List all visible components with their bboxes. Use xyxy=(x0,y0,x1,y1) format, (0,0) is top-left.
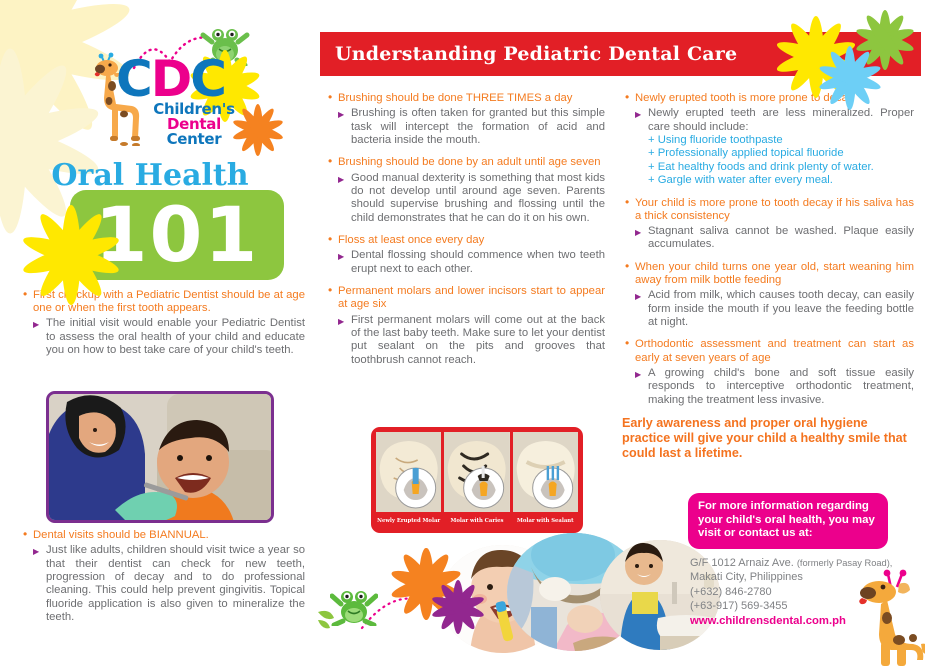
logo-name: Children's Dental Center xyxy=(134,102,254,147)
sub-item: A growing child's bone and soft tissue e… xyxy=(622,367,914,407)
bullet-heading: Your child is more prone to tooth decay … xyxy=(622,197,914,223)
logo-name-line-3: Center xyxy=(134,132,254,147)
banner-heading: Understanding Pediatric Dental Care xyxy=(320,43,737,65)
plus-item: + Professionally applied topical fluorid… xyxy=(648,147,914,160)
address-street: G/F 1012 Arnaiz Ave. xyxy=(690,557,797,569)
left-text-block-1: First checkup with a Pediatric Dentist s… xyxy=(20,289,305,367)
cdc-logo: CDC Children's Dental Center xyxy=(88,22,273,150)
left-column: CDC Children's Dental Center Oral Health… xyxy=(0,0,318,670)
molar-image-caries xyxy=(444,432,509,512)
bullet-heading: Floss at least once every day xyxy=(325,234,605,247)
dentist-examining-child-photo xyxy=(46,391,274,523)
plus-item: + Gargle with water after every meal. xyxy=(648,174,914,187)
contact-address-line-2: Makati City, Philippines xyxy=(690,570,905,584)
bullet-heading: When your child turns one year old, star… xyxy=(622,261,914,287)
contact-address-line-1: G/F 1012 Arnaiz Ave. (formerly Pasay Roa… xyxy=(690,556,905,570)
sub-item: Dental flossing should commence when two… xyxy=(325,249,605,276)
sub-item: Newly erupted teeth are less mineralized… xyxy=(622,107,914,187)
molar-image-newly-erupted xyxy=(376,432,441,512)
sub-item: Brushing is often taken for granted but … xyxy=(325,107,605,147)
title-number-box: 101 xyxy=(70,190,284,280)
left-text-block-2: Dental visits should be BIANNUAL. Just l… xyxy=(20,529,305,634)
page-title-oral-health: Oral Health xyxy=(0,158,300,193)
contact-phone-2[interactable]: (+63-917) 569-3455 xyxy=(690,599,905,613)
closing-statement: Early awareness and proper oral hygiene … xyxy=(622,416,914,461)
sub-item: Good manual dexterity is something that … xyxy=(325,172,605,226)
bullet-heading: Orthodontic assessment and treatment can… xyxy=(622,338,914,364)
plus-item: + Using fluoride toothpaste xyxy=(648,134,914,147)
molar-caption: Molar with Caries xyxy=(444,512,509,530)
bullet-heading: Brushing should be done THREE TIMES a da… xyxy=(325,92,605,105)
logo-letter-c1: C xyxy=(116,50,151,108)
molar-images xyxy=(376,432,578,512)
contact-callout-text: For more information regarding your chil… xyxy=(698,500,878,541)
molar-captions: Newly Erupted Molar Molar with Caries Mo… xyxy=(376,512,578,530)
photo-illustration xyxy=(49,394,274,523)
contact-details: G/F 1012 Arnaiz Ave. (formerly Pasay Roa… xyxy=(690,556,905,628)
contact-website-link[interactable]: www.childrensdental.com.ph xyxy=(690,614,905,628)
bullet-heading: First checkup with a Pediatric Dentist s… xyxy=(20,289,305,315)
bullet-heading: Brushing should be done by an adult unti… xyxy=(325,156,605,169)
bullet-heading: Newly erupted tooth is more prone to dec… xyxy=(622,92,914,105)
bullet-heading: Dental visits should be BIANNUAL. xyxy=(20,529,305,542)
bullet-heading: Permanent molars and lower incisors star… xyxy=(325,285,605,311)
plus-item: + Eat healthy foods and drink plenty of … xyxy=(648,161,914,174)
frog-icon xyxy=(330,582,378,626)
right-column: Newly erupted tooth is more prone to dec… xyxy=(622,92,914,461)
molar-caption: Molar with Sealant xyxy=(513,512,578,530)
middle-column: Brushing should be done THREE TIMES a da… xyxy=(325,92,605,376)
page-banner: Understanding Pediatric Dental Care xyxy=(320,32,921,76)
sub-item: Stagnant saliva cannot be washed. Plaque… xyxy=(622,225,914,252)
molar-comparison-figure: Newly Erupted Molar Molar with Caries Mo… xyxy=(371,427,583,533)
molar-caption: Newly Erupted Molar xyxy=(376,512,441,530)
contact-phone-1[interactable]: (+632) 846-2780 xyxy=(690,585,905,599)
molar-photo xyxy=(444,432,509,512)
molar-photo xyxy=(513,432,578,512)
title-number: 101 xyxy=(95,197,260,273)
sub-item: Acid from milk, which causes tooth decay… xyxy=(622,289,914,329)
address-note: (formerly Pasay Road), xyxy=(797,558,893,568)
molar-image-sealant xyxy=(513,432,578,512)
molar-photo xyxy=(376,432,441,512)
sub-item-text: Newly erupted teeth are less mineralized… xyxy=(648,107,914,132)
sub-item: First permanent molars will come out at … xyxy=(325,314,605,368)
sub-item: The initial visit would enable your Pedi… xyxy=(20,317,305,357)
sub-item: Just like adults, children should visit … xyxy=(20,544,305,624)
contact-callout-bubble: For more information regarding your chil… xyxy=(688,493,888,549)
